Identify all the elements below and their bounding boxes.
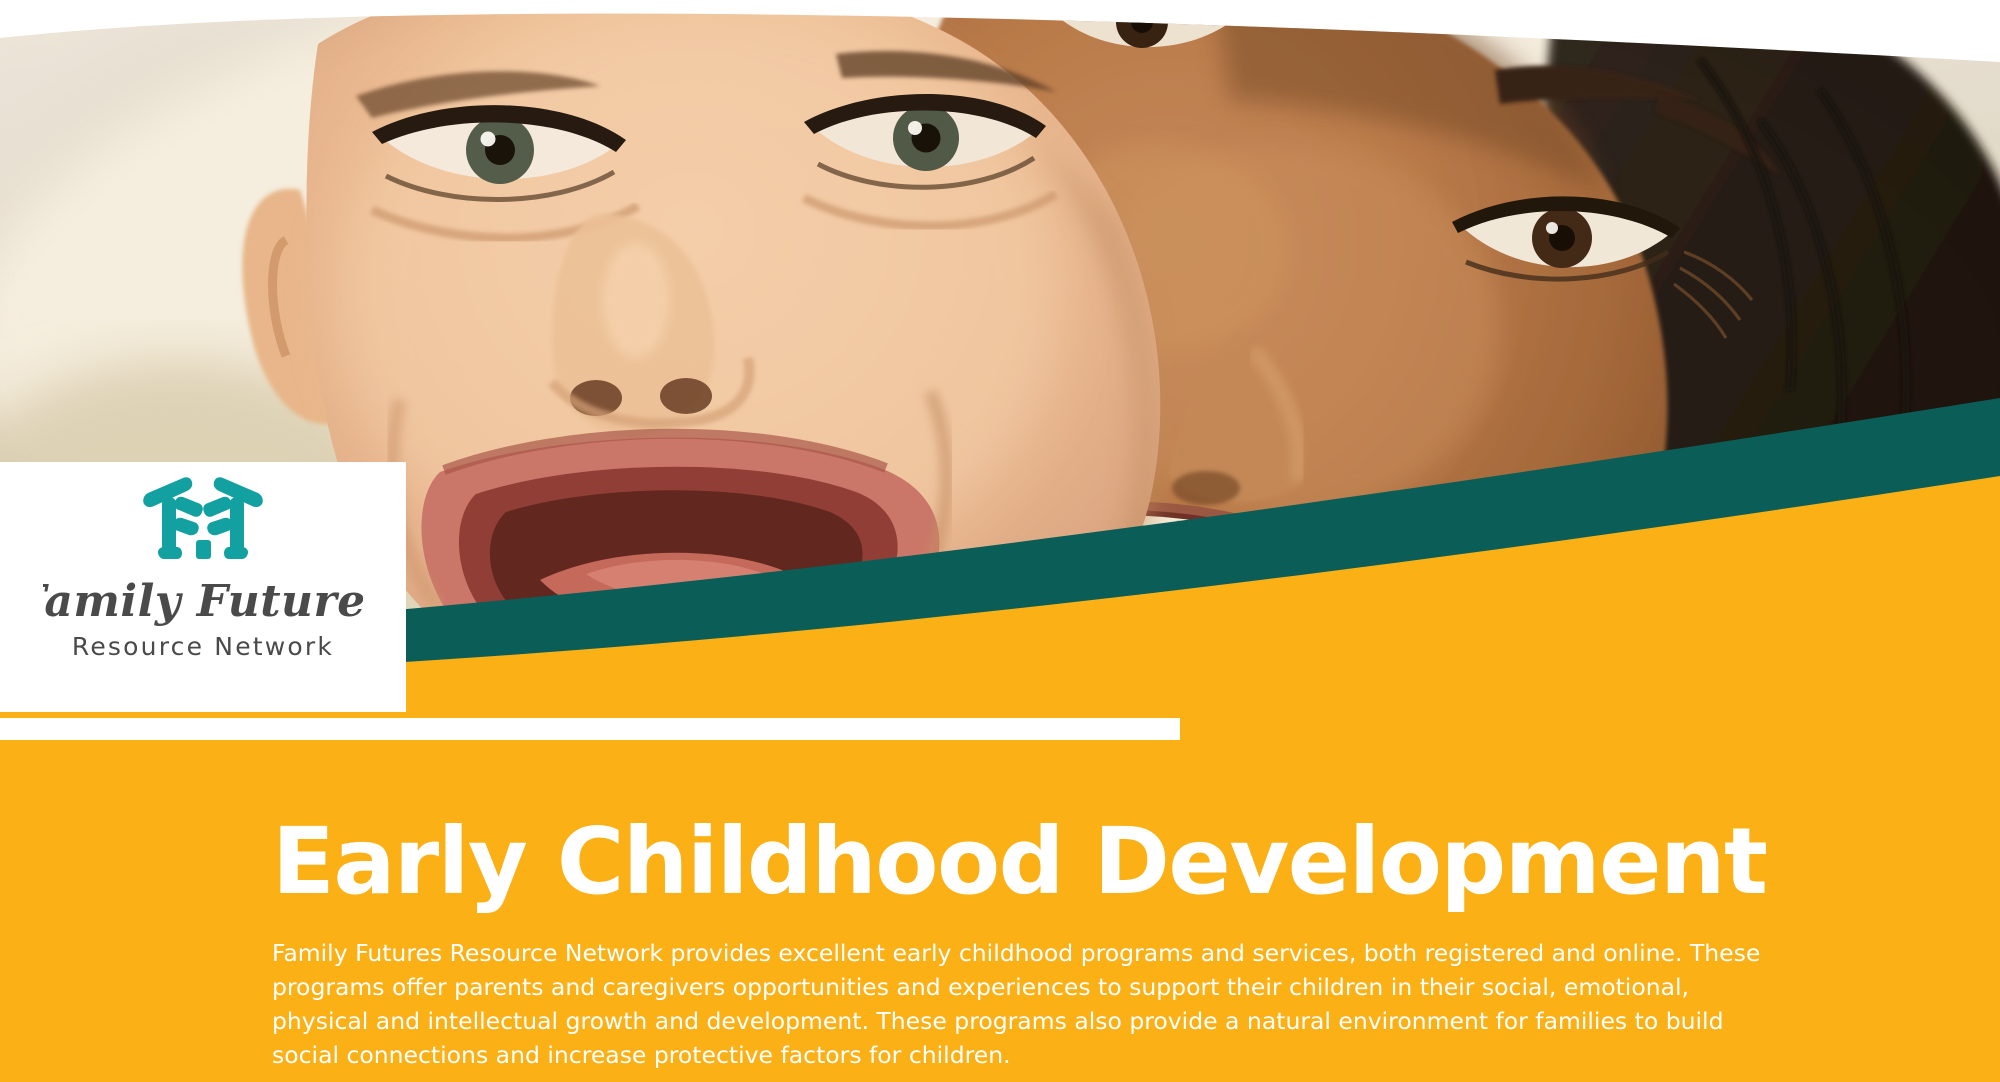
house-ff-icon	[137, 476, 269, 568]
brand-wordmark: Family Futures	[43, 574, 363, 630]
brand-logo-card[interactable]: Family Futures Resource Network	[0, 462, 406, 712]
page-root: Family Futures Resource Network Early Ch…	[0, 0, 2000, 1082]
page-title: Early Childhood Development	[272, 816, 1767, 908]
page-description: Family Futures Resource Network provides…	[272, 936, 1762, 1072]
brand-subtitle: Resource Network	[72, 632, 334, 661]
content-section: Early Childhood Development Family Futur…	[0, 740, 2000, 1082]
brand-wordmark-text: Family Futures	[43, 576, 363, 627]
